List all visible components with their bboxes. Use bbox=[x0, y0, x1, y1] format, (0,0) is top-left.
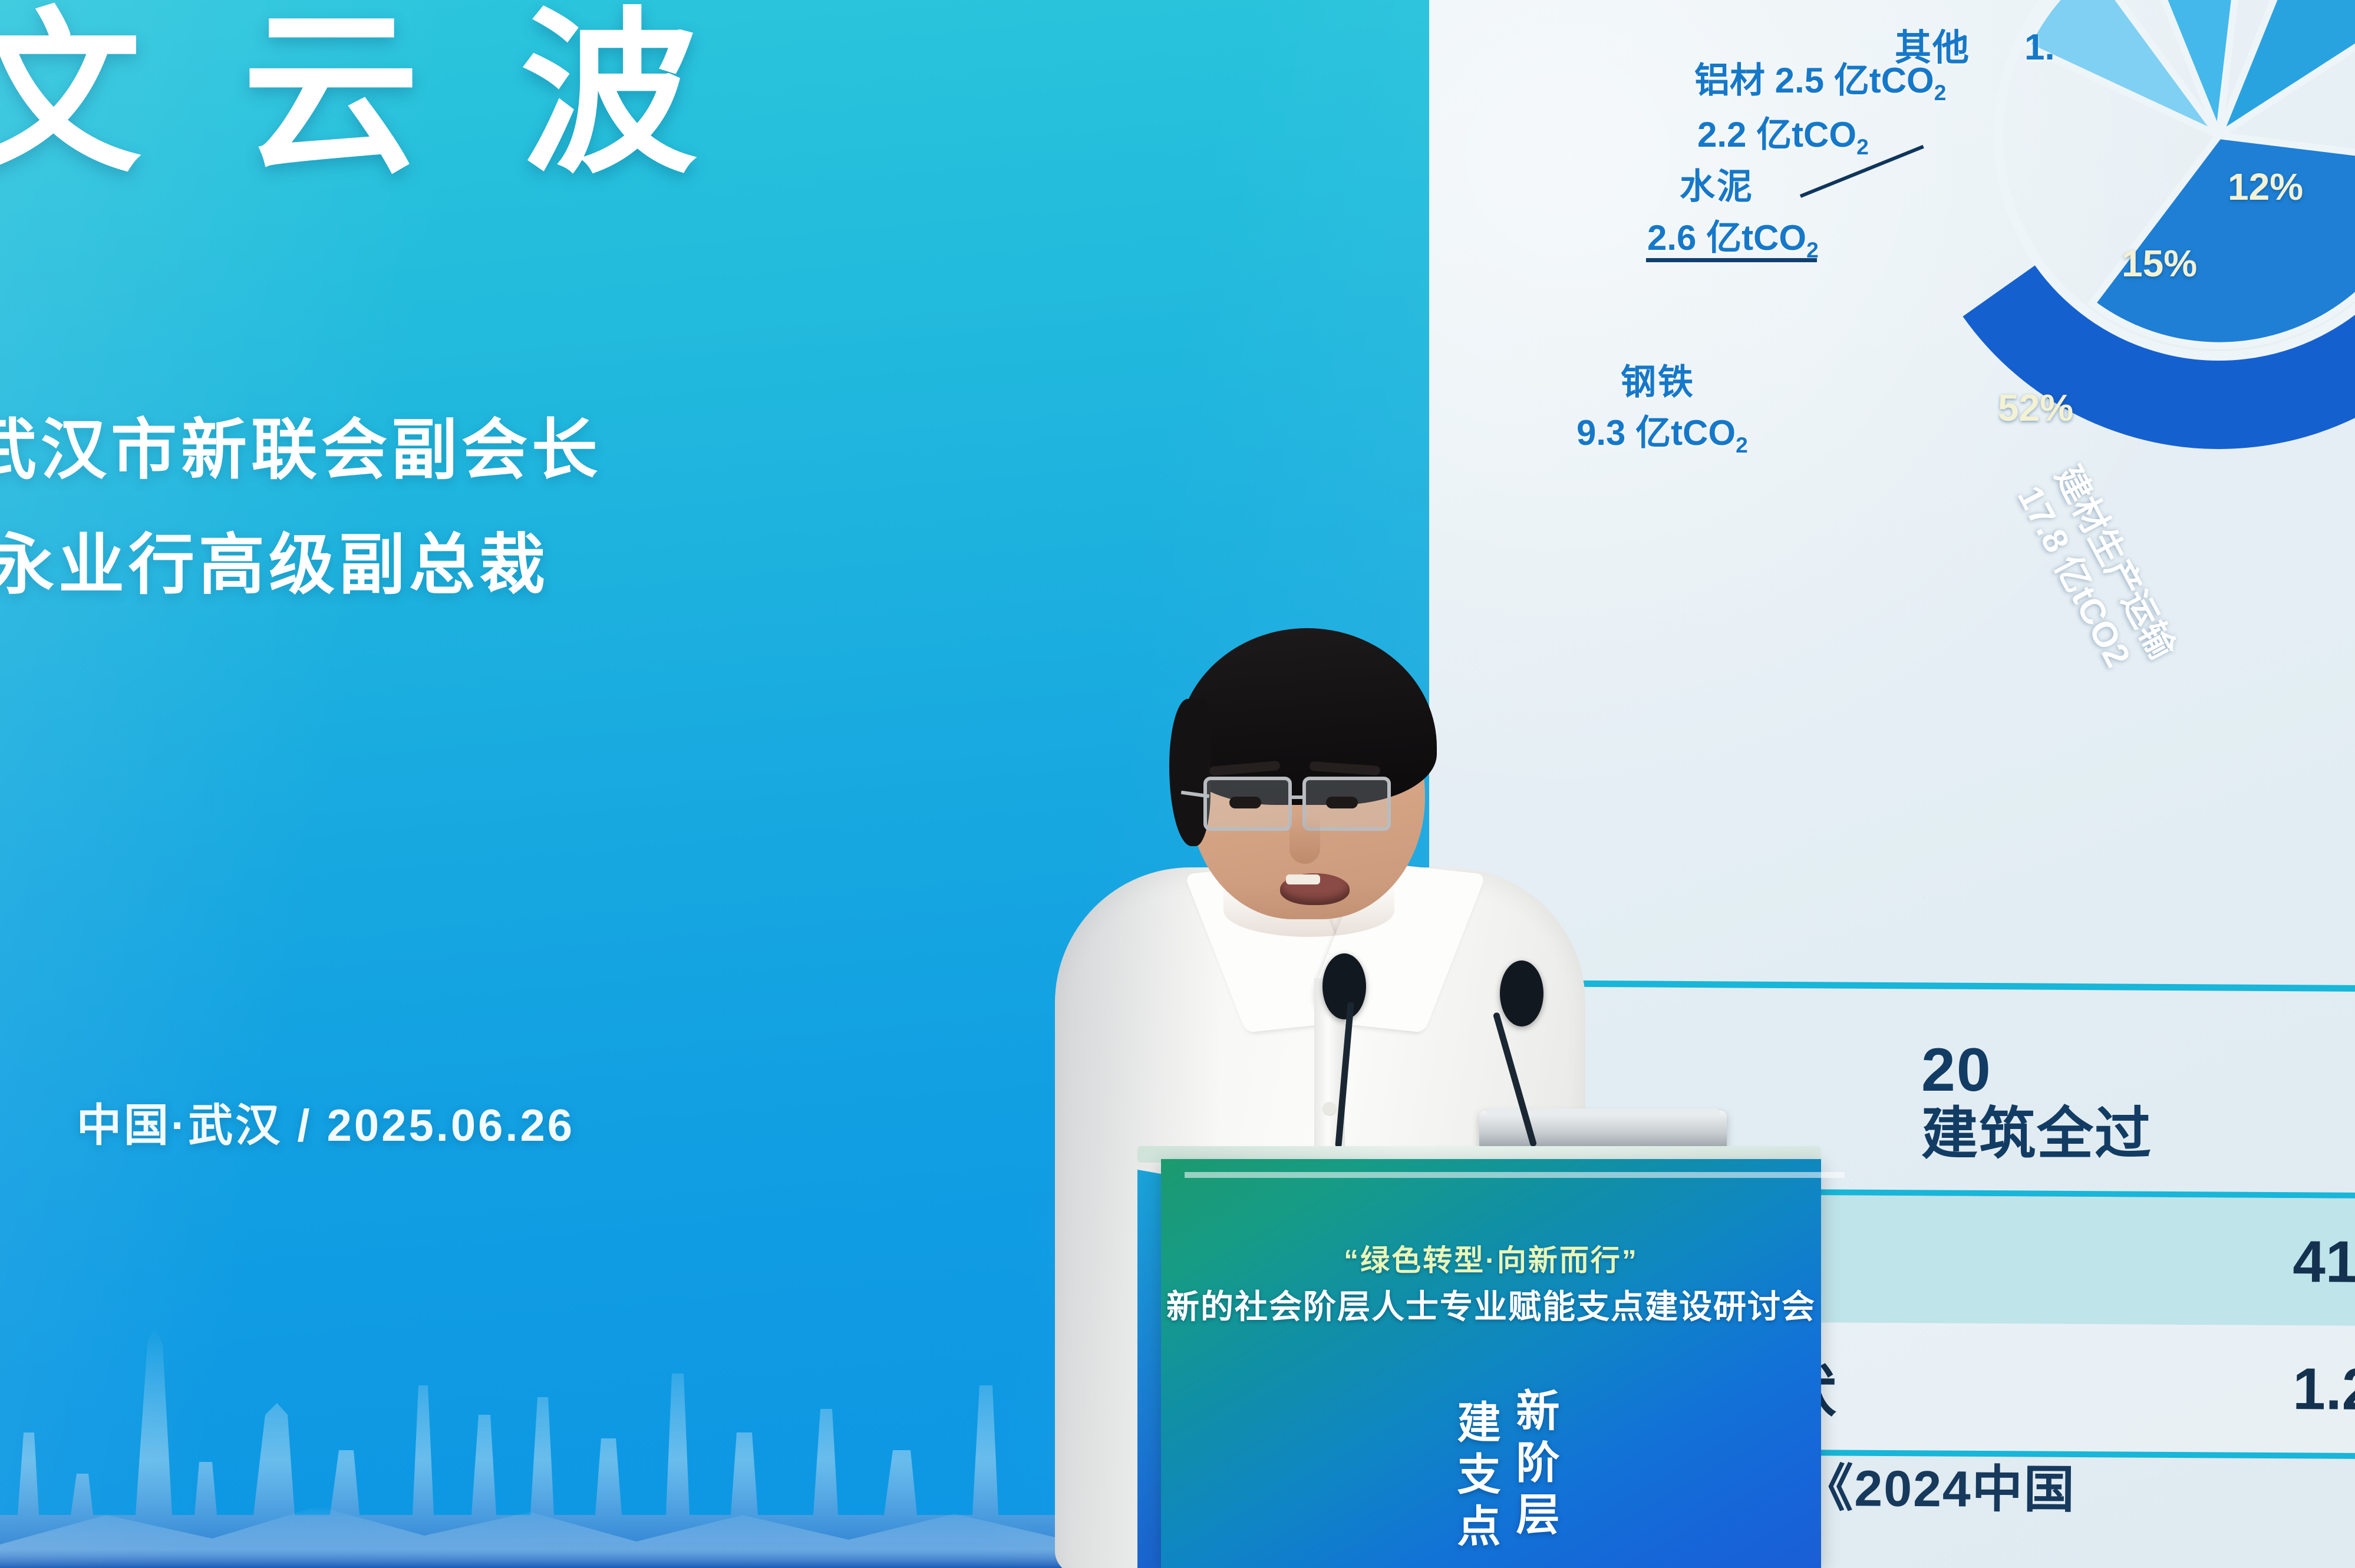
podium: “绿色转型·向新而行” 新的社会阶层人士专业赋能支点建设研讨会 建支点 新阶层 bbox=[1137, 1146, 1821, 1568]
microphone-right bbox=[1500, 960, 1553, 1149]
table-year: 20 bbox=[1921, 1038, 1992, 1102]
pie-label-cement-value: 2.6 亿tCO2 bbox=[1647, 209, 1819, 263]
table-row-value: 1.23 bbox=[2293, 1355, 2355, 1424]
cement-underline bbox=[1646, 258, 1817, 262]
pie-percent-52: 52% bbox=[1998, 386, 2073, 430]
speaker-role-line-2: 永业行高级副总裁 bbox=[0, 527, 549, 603]
podium-vertical-text-right: 新阶层 bbox=[1503, 1388, 1566, 1543]
pie-label-steel-name: 钢铁 bbox=[1621, 354, 1695, 405]
eyeglass-bridge bbox=[1291, 795, 1305, 799]
pie-label-steel-value: 9.3 亿tCO2 bbox=[1576, 404, 1748, 458]
microphone-capsule bbox=[1322, 953, 1366, 1019]
microphone-left bbox=[1315, 953, 1368, 1148]
microphone-stem bbox=[1493, 1012, 1538, 1147]
table-title: 建筑全过 bbox=[1921, 1102, 2152, 1166]
nose bbox=[1289, 814, 1320, 864]
conference-photo: 文 云 波 武汉市新联会副会长 永业行高级副总裁 中国·武汉 / 2025.06… bbox=[0, 0, 2355, 1568]
eye-right bbox=[1326, 797, 1358, 808]
pie-label-aluminium-value2: 2.2 亿tCO2 bbox=[1697, 106, 1869, 160]
location-date: 中国·武汉 / 2025.06.26 bbox=[77, 1089, 575, 1154]
slide-divider-rule bbox=[1568, 981, 2355, 992]
podium-vertical-text-left: 建支点 bbox=[1444, 1399, 1507, 1555]
podium-slogan: “绿色转型·向新而行” bbox=[1161, 1237, 1821, 1279]
pie-percent-15: 15% bbox=[2122, 242, 2197, 285]
pie-label-aluminium: 铝材 2.5 亿tCO2 bbox=[1694, 52, 1946, 105]
table-row-value: 41.5 bbox=[2293, 1228, 2355, 1296]
podium-event-title: 新的社会阶层人士专业赋能支点建设研讨会 bbox=[1161, 1280, 1821, 1328]
microphone-capsule bbox=[1500, 960, 1543, 1026]
speaker-name: 文 云 波 bbox=[0, 6, 723, 183]
pie-label-other-value: 1. bbox=[2024, 27, 2055, 68]
microphone-stem bbox=[1335, 1002, 1354, 1148]
podium-top-rim bbox=[1185, 1172, 1845, 1178]
speaker-role-line-1: 武汉市新联会副会长 bbox=[0, 412, 602, 488]
pie-percent-12: 12% bbox=[2228, 165, 2303, 209]
pie-label-cement-name: 水泥 bbox=[1680, 158, 1754, 209]
teeth bbox=[1286, 874, 1320, 884]
eye-left bbox=[1229, 797, 1261, 808]
